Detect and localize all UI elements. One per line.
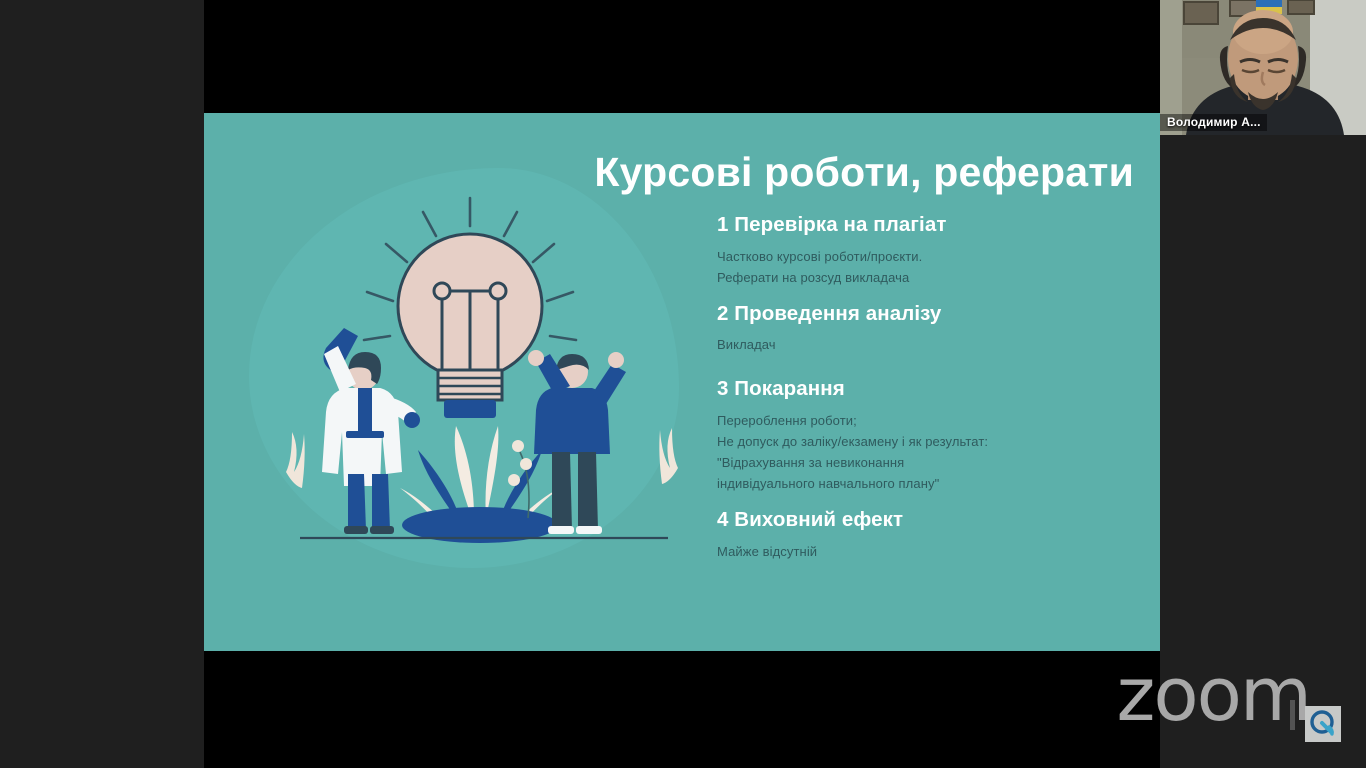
slide-item-4-heading: 4 Виховний ефект [717,508,1137,532]
slide-item-1-heading: 1 Перевірка на плагіат [717,213,1137,237]
slide-item-2-line-1: Викладач [717,334,1137,355]
q-badge-icon[interactable] [1305,706,1341,742]
slide-title: Курсові роботи, реферати [534,149,1134,196]
lightbulb-idea-illustration [260,188,700,553]
slide-body-column: 1 Перевірка на плагіат Частково курсові … [717,213,1137,584]
slide-item-4-body: Майже відсутній [717,541,1137,562]
window-edge-artifact [1290,700,1295,730]
participant-video-tile[interactable]: Володимир А... [1160,0,1366,135]
slide-item-1-line-2: Реферати на розсуд викладача [717,267,1137,288]
slide-item-1-body: Частково курсові роботи/проєкти. Реферат… [717,246,1137,288]
slide-item-2: 2 Проведення аналізу Викладач [717,302,1137,356]
slide-item-3-heading: 3 Покарання [717,377,1137,401]
slide-item-2-body: Викладач [717,334,1137,355]
slide-item-1-line-1: Частково курсові роботи/проєкти. [717,246,1137,267]
slide-item-4-line-1: Майже відсутній [717,541,1137,562]
slide-item-1: 1 Перевірка на плагіат Частково курсові … [717,213,1137,288]
presentation-slide[interactable]: Курсові роботи, реферати 1 Перевірка на … [204,113,1160,651]
slide-item-3-line-3: "Відрахування за невиконання [717,452,1137,473]
slide-item-3-line-2: Не допуск до заліку/екзамену і як резуль… [717,431,1137,452]
zoom-watermark-logo: zoom [1117,658,1310,732]
participant-name-label: Володимир А... [1160,114,1267,131]
zoom-meeting-window: Курсові роботи, реферати 1 Перевірка на … [0,0,1366,768]
slide-item-3: 3 Покарання Перероблення роботи; Не допу… [717,377,1137,494]
slide-item-3-body: Перероблення роботи; Не допуск до заліку… [717,410,1137,494]
slide-item-3-line-1: Перероблення роботи; [717,410,1137,431]
slide-item-2-heading: 2 Проведення аналізу [717,302,1137,326]
slide-item-3-line-4: індивідуального навчального плану" [717,473,1137,494]
slide-item-4: 4 Виховний ефект Майже відсутній [717,508,1137,562]
